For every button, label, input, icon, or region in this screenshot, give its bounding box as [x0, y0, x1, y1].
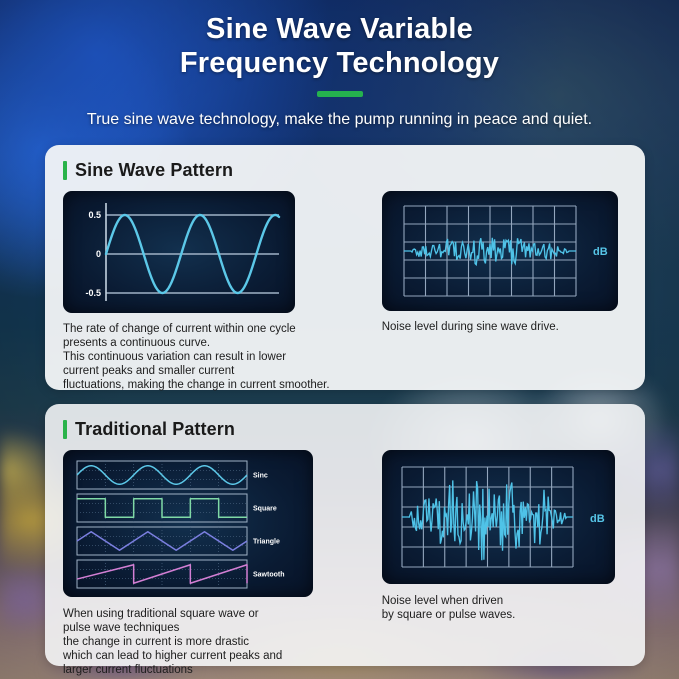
- page-title-line-2: Frequency Technology: [0, 46, 679, 80]
- page-root: Sine Wave Variable Frequency Technology …: [0, 0, 679, 679]
- noise-square-drive-chart: dB: [382, 450, 615, 584]
- caption-traditional-right: Noise level when driven by square or pul…: [382, 594, 629, 622]
- page-header: Sine Wave Variable Frequency Technology …: [0, 0, 679, 138]
- sine-wave-svg: 0.5 0 -0.5: [71, 197, 287, 307]
- traditional-waveforms-svg: SincSquareTriangleSawtooth: [71, 457, 305, 590]
- caption-sine-right: Noise level during sine wave drive.: [382, 320, 629, 334]
- y-tick-lower: -0.5: [85, 288, 101, 298]
- y-tick-upper: 0.5: [88, 210, 101, 220]
- panel-sine-wave-pattern: Sine Wave Pattern 0.5 0 -0.5 The: [45, 145, 645, 390]
- waveform-label-square: Square: [253, 506, 277, 513]
- waveform-rows: SincSquareTriangleSawtooth: [77, 461, 285, 588]
- traditional-waveforms-chart: SincSquareTriangleSawtooth: [63, 450, 313, 597]
- sine-column-right: dB Noise level during sine wave drive.: [382, 191, 629, 392]
- caption-sine-left: The rate of change of current within one…: [63, 322, 360, 392]
- db-unit-label: dB: [590, 513, 605, 525]
- waveform-label-sawtooth: Sawtooth: [253, 572, 285, 579]
- sine-wave-chart: 0.5 0 -0.5: [63, 191, 295, 313]
- sine-column-left: 0.5 0 -0.5 The rate of change of current…: [63, 191, 360, 392]
- noise-square-svg: dB: [388, 458, 609, 576]
- noise-sine-svg: dB: [388, 198, 612, 304]
- waveform-sawtooth: [77, 565, 247, 583]
- waveform-sinc: [77, 466, 247, 484]
- page-title-line-1: Sine Wave Variable: [0, 12, 679, 46]
- caption-traditional-left: When using traditional square wave or pu…: [63, 607, 360, 677]
- db-unit-label: dB: [593, 246, 608, 258]
- y-tick-middle: 0: [96, 249, 101, 259]
- accent-bar-icon: [63, 420, 67, 439]
- waveform-label-sinc: Sinc: [253, 473, 268, 480]
- traditional-column-right: dB Noise level when driven by square or …: [382, 450, 629, 677]
- panel-title-sine: Sine Wave Pattern: [75, 160, 233, 181]
- title-divider: [317, 91, 363, 97]
- waveform-triangle: [77, 532, 247, 550]
- traditional-column-left: SincSquareTriangleSawtooth When using tr…: [63, 450, 360, 677]
- noise-sine-drive-chart: dB: [382, 191, 618, 311]
- panel-traditional-pattern: Traditional Pattern SincSquareTriangleSa…: [45, 404, 645, 666]
- accent-bar-icon: [63, 161, 67, 180]
- panel-title-traditional: Traditional Pattern: [75, 419, 235, 440]
- waveform-square: [77, 499, 247, 517]
- panel-body-sine: 0.5 0 -0.5 The rate of change of current…: [63, 191, 629, 392]
- panel-header-traditional: Traditional Pattern: [63, 417, 629, 441]
- page-subtitle: True sine wave technology, make the pump…: [0, 110, 679, 130]
- waveform-label-triangle: Triangle: [253, 539, 280, 546]
- panel-header-sine: Sine Wave Pattern: [63, 158, 629, 182]
- panel-body-traditional: SincSquareTriangleSawtooth When using tr…: [63, 450, 629, 677]
